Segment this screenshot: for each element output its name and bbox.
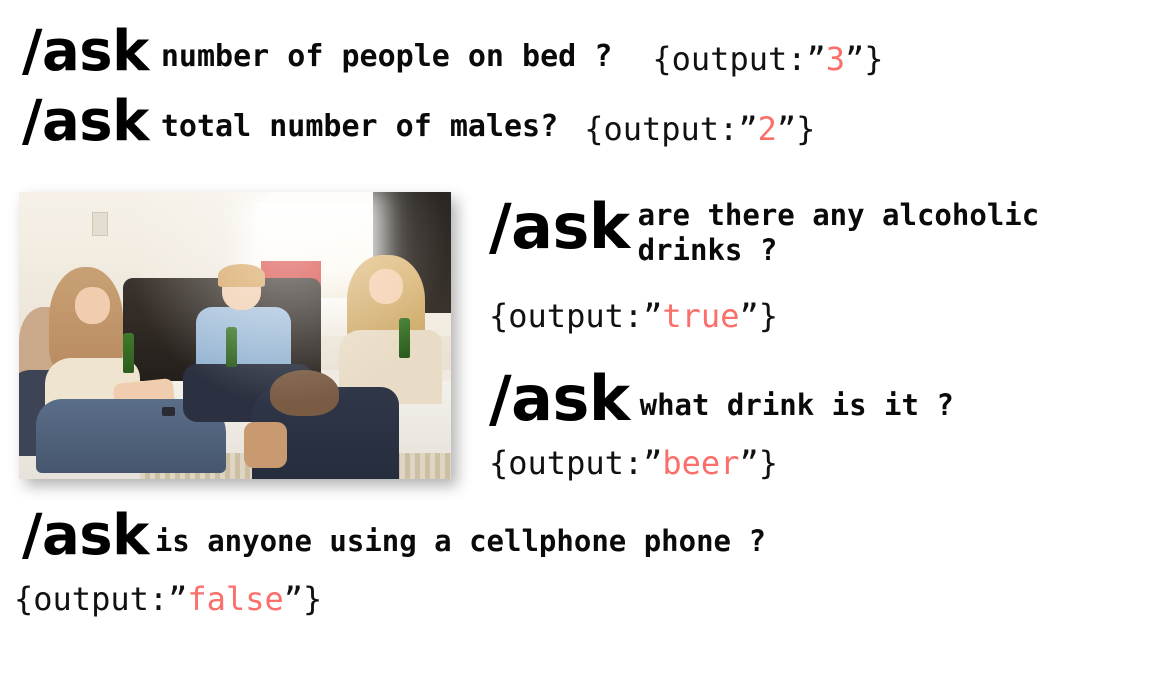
- scene-photograph: [19, 192, 451, 479]
- cellphone-on-bed: [162, 407, 175, 416]
- output-suffix: ”}: [739, 297, 778, 335]
- person-d-face: [369, 269, 404, 303]
- output-prefix: {output:”: [489, 297, 662, 335]
- question-text: number of people on bed ?: [161, 39, 613, 74]
- question-text: is anyone using a cellphone phone ?: [155, 524, 766, 558]
- person-e-arm: [244, 422, 287, 468]
- output-block: {output:”2”}: [584, 113, 815, 145]
- beer-bottle-1: [123, 333, 134, 373]
- output-prefix: {output:”: [489, 444, 662, 482]
- qa-entry-what-drink: /ask what drink is it ?: [489, 368, 954, 430]
- output-value: beer: [662, 444, 739, 482]
- ask-command-token: /ask: [22, 24, 149, 80]
- output-value: 3: [826, 40, 845, 78]
- output-block-alcoholic-drinks: {output:”true”}: [489, 300, 778, 332]
- ask-command-token: /ask: [22, 94, 149, 150]
- light-switch: [92, 212, 108, 236]
- qa-entry-people-on-bed: /ask number of people on bed ? {output:”…: [22, 24, 884, 80]
- output-block-cellphone-use: {output:”false”}: [14, 583, 322, 615]
- output-block-what-drink: {output:”beer”}: [489, 447, 778, 479]
- output-suffix: ”}: [845, 40, 884, 78]
- output-suffix: ”}: [739, 444, 778, 482]
- person-b-face: [75, 287, 110, 324]
- output-prefix: {output:”: [14, 580, 187, 618]
- output-prefix: {output:”: [652, 40, 825, 78]
- question-text: total number of males?: [161, 109, 558, 144]
- question-text: are there any alcoholic drinks ?: [638, 198, 1040, 269]
- output-block: {output:”3”}: [652, 43, 883, 75]
- ask-command-token: /ask: [489, 196, 630, 258]
- ask-command-token: /ask: [489, 368, 630, 430]
- output-suffix: ”}: [284, 580, 323, 618]
- output-value: false: [187, 580, 283, 618]
- output-value: 2: [758, 110, 777, 148]
- output-value: true: [662, 297, 739, 335]
- output-suffix: ”}: [777, 110, 816, 148]
- person-c-hair: [218, 264, 266, 287]
- question-text: what drink is it ?: [640, 388, 954, 422]
- qa-entry-alcoholic-drinks: /ask are there any alcoholic drinks ?: [489, 196, 1039, 267]
- person-e-head: [270, 370, 339, 416]
- ask-command-token: /ask: [22, 508, 149, 564]
- beer-bottle-3: [399, 318, 410, 358]
- qa-entry-total-males: /ask total number of males? {output:”2”}: [22, 94, 815, 150]
- output-prefix: {output:”: [584, 110, 757, 148]
- beer-bottle-2: [226, 327, 237, 367]
- photo-canvas: [19, 192, 451, 479]
- qa-entry-cellphone-use: /ask is anyone using a cellphone phone ?: [22, 508, 766, 564]
